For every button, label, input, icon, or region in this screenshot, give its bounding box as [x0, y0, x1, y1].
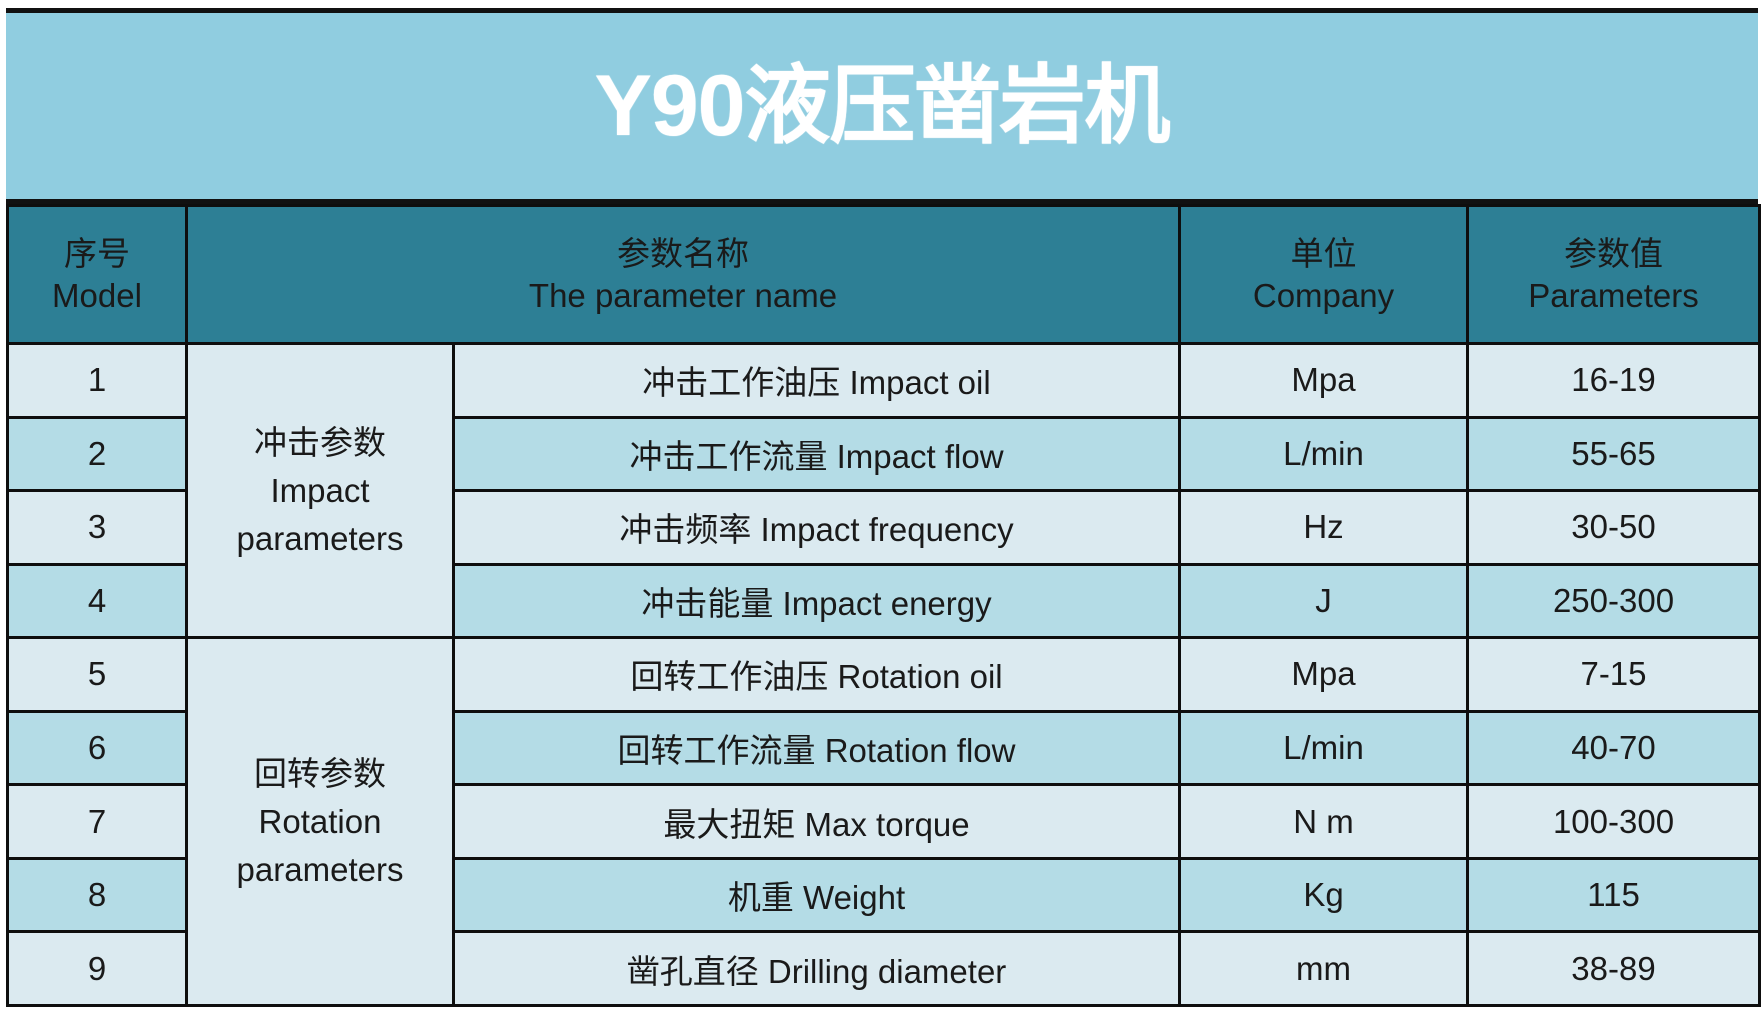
group-label-en-2: parameters: [194, 515, 446, 563]
cell-group-rotation: 回转参数 Rotation parameters: [187, 638, 454, 1006]
group-label-en-2: parameters: [194, 846, 446, 894]
table-header-row: 序号 Model 参数名称 The parameter name 单位 Comp…: [8, 206, 1760, 344]
cell-value: 16-19: [1468, 344, 1760, 418]
cell-model: 6: [8, 711, 187, 785]
cell-unit: L/min: [1180, 711, 1468, 785]
spec-table-wrapper: 序号 Model 参数名称 The parameter name 单位 Comp…: [6, 204, 1758, 1007]
cell-value: 7-15: [1468, 638, 1760, 712]
column-header-model: 序号 Model: [8, 206, 187, 344]
cell-parameter-name: 机重 Weight: [454, 858, 1180, 932]
group-label-cn: 冲击参数: [194, 419, 446, 467]
table-head: 序号 Model 参数名称 The parameter name 单位 Comp…: [8, 206, 1760, 344]
cell-unit: Mpa: [1180, 344, 1468, 418]
spec-table: 序号 Model 参数名称 The parameter name 单位 Comp…: [6, 204, 1761, 1007]
cell-model: 7: [8, 785, 187, 859]
column-header-model-en: Model: [15, 275, 179, 316]
cell-value: 55-65: [1468, 417, 1760, 491]
cell-model: 1: [8, 344, 187, 418]
column-header-model-cn: 序号: [15, 233, 179, 274]
column-header-value-en: Parameters: [1475, 275, 1752, 316]
table-row: 1 冲击参数 Impact parameters 冲击工作油压 Impact o…: [8, 344, 1760, 418]
cell-parameter-name: 凿孔直径 Drilling diameter: [454, 932, 1180, 1006]
cell-parameter-name: 冲击频率 Impact frequency: [454, 491, 1180, 565]
group-label-en-1: Rotation: [194, 798, 446, 846]
cell-value: 40-70: [1468, 711, 1760, 785]
cell-value: 100-300: [1468, 785, 1760, 859]
cell-value: 30-50: [1468, 491, 1760, 565]
cell-model: 9: [8, 932, 187, 1006]
cell-model: 4: [8, 564, 187, 638]
cell-value: 115: [1468, 858, 1760, 932]
cell-unit: Hz: [1180, 491, 1468, 565]
cell-value: 38-89: [1468, 932, 1760, 1006]
cell-parameter-name: 冲击工作油压 Impact oil: [454, 344, 1180, 418]
spec-sheet: Y90液压凿岩机 序号 Model 参数名称 The para: [0, 0, 1762, 1015]
column-header-value: 参数值 Parameters: [1468, 206, 1760, 344]
table-body: 1 冲击参数 Impact parameters 冲击工作油压 Impact o…: [8, 344, 1760, 1006]
cell-parameter-name: 最大扭矩 Max torque: [454, 785, 1180, 859]
title-banner: Y90液压凿岩机: [6, 8, 1758, 204]
cell-model: 2: [8, 417, 187, 491]
cell-model: 8: [8, 858, 187, 932]
cell-unit: mm: [1180, 932, 1468, 1006]
cell-parameter-name: 冲击工作流量 Impact flow: [454, 417, 1180, 491]
cell-group-impact: 冲击参数 Impact parameters: [187, 344, 454, 638]
cell-unit: N m: [1180, 785, 1468, 859]
cell-parameter-name: 回转工作油压 Rotation oil: [454, 638, 1180, 712]
group-label-en-1: Impact: [194, 467, 446, 515]
table-row: 5 回转参数 Rotation parameters 回转工作油压 Rotati…: [8, 638, 1760, 712]
column-header-unit-en: Company: [1187, 275, 1460, 316]
cell-parameter-name: 回转工作流量 Rotation flow: [454, 711, 1180, 785]
column-header-value-cn: 参数值: [1475, 233, 1752, 274]
cell-unit: J: [1180, 564, 1468, 638]
cell-unit: Mpa: [1180, 638, 1468, 712]
column-header-parameter-name: 参数名称 The parameter name: [187, 206, 1180, 344]
cell-model: 5: [8, 638, 187, 712]
column-header-unit: 单位 Company: [1180, 206, 1468, 344]
page-title: Y90液压凿岩机: [594, 63, 1169, 149]
column-header-unit-cn: 单位: [1187, 233, 1460, 274]
cell-unit: Kg: [1180, 858, 1468, 932]
column-header-parameter-name-en: The parameter name: [194, 275, 1172, 316]
cell-parameter-name: 冲击能量 Impact energy: [454, 564, 1180, 638]
column-header-parameter-name-cn: 参数名称: [194, 233, 1172, 274]
cell-unit: L/min: [1180, 417, 1468, 491]
cell-model: 3: [8, 491, 187, 565]
group-label-cn: 回转参数: [194, 750, 446, 798]
cell-value: 250-300: [1468, 564, 1760, 638]
